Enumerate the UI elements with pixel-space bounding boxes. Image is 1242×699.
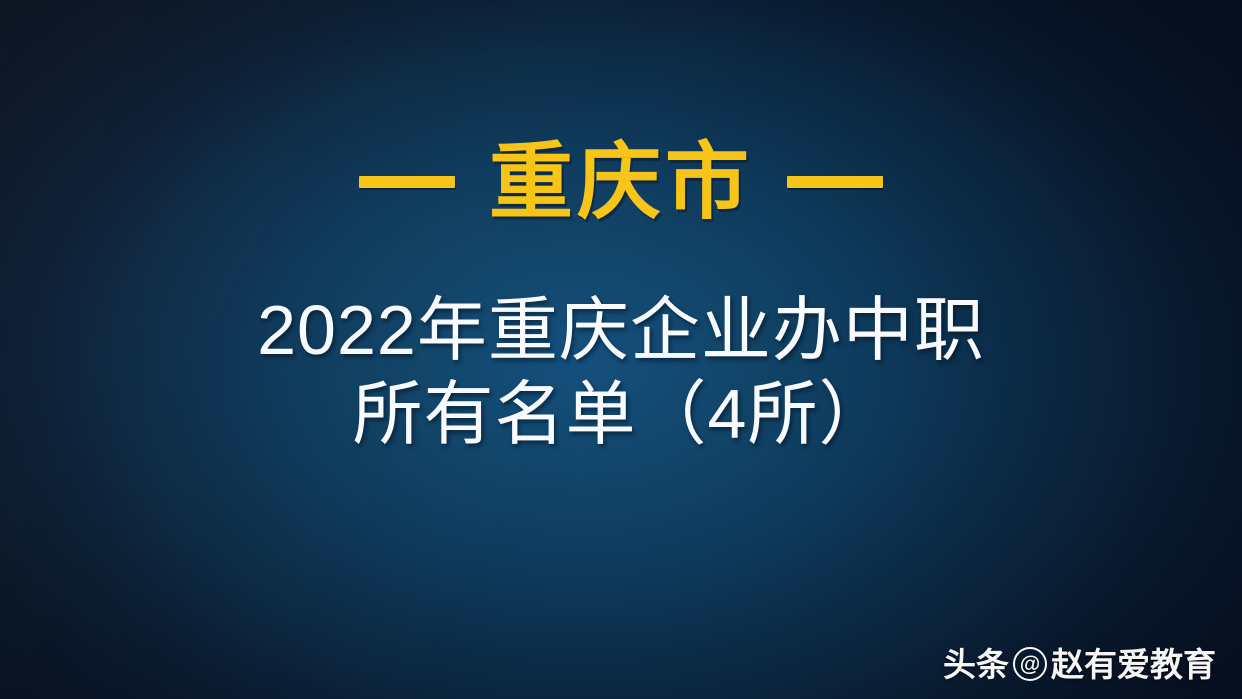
presentation-slide: 重庆市 2022年重庆企业办中职 所有名单（4所） 头条 @ 赵有爱教育	[0, 0, 1242, 699]
at-sign-icon: @	[1013, 647, 1047, 681]
watermark-account: 赵有爱教育	[1051, 648, 1216, 681]
subtitle-line-2: 所有名单（4所）	[0, 372, 1242, 456]
heading-rule-right-icon	[787, 176, 883, 188]
heading-row: 重庆市	[0, 128, 1242, 236]
heading-rule-left-icon	[359, 176, 455, 188]
watermark: 头条 @ 赵有爱教育	[943, 647, 1216, 681]
watermark-platform: 头条	[943, 648, 1009, 681]
heading-title: 重庆市	[485, 140, 757, 224]
subtitle-block: 2022年重庆企业办中职 所有名单（4所）	[0, 288, 1242, 456]
subtitle-line-1: 2022年重庆企业办中职	[0, 288, 1242, 372]
